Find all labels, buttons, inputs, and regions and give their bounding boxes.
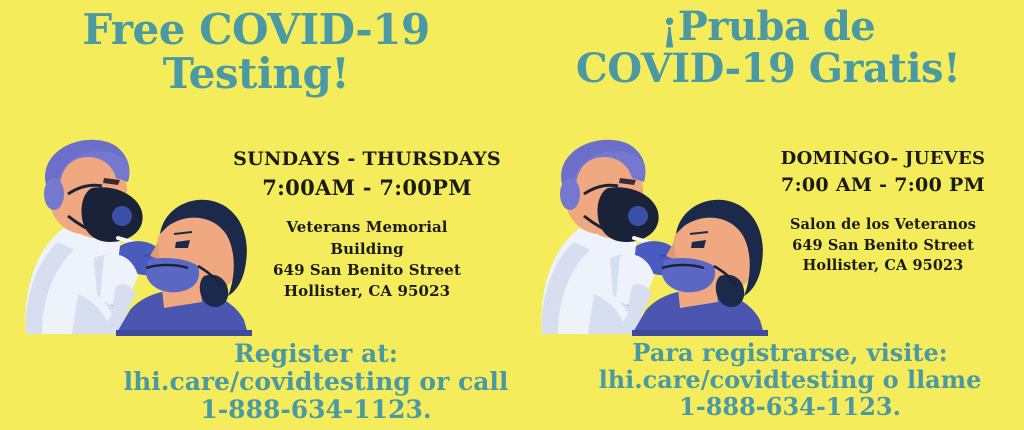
headline-line-2: Testing! — [0, 52, 512, 96]
flyer-panel-english: Free COVID-19 Testing! — [0, 0, 512, 430]
register-phone-english[interactable]: 1-888-634-1123. — [120, 396, 512, 424]
headline-line-1: Free COVID-19 — [0, 8, 512, 52]
headline-spanish: ¡Pruba de COVID-19 Gratis! — [512, 6, 1024, 90]
address-spanish: Salon de los Veteranos 649 San Benito St… — [742, 215, 1024, 277]
schedule-info-english: SUNDAYS - THURSDAYS 7:00AM - 7:00PM Vete… — [222, 148, 512, 302]
covid-swab-test-illustration-spanish — [524, 138, 776, 338]
address-line: Hollister, CA 95023 — [742, 256, 1024, 277]
schedule-info-spanish: DOMINGO- JUEVES 7:00 AM - 7:00 PM Salon … — [742, 148, 1024, 277]
register-heading-spanish: Para registrarse, visite: — [570, 340, 1010, 367]
registration-info-spanish: Para registrarse, visite: lhi.care/covid… — [570, 340, 1010, 421]
days-label-spanish: DOMINGO- JUEVES — [742, 148, 1024, 171]
register-url-english[interactable]: lhi.care/covidtesting or call — [120, 368, 512, 396]
address-line: 649 San Benito Street — [742, 236, 1024, 257]
register-url-spanish[interactable]: lhi.care/covidtesting o llame — [570, 367, 1010, 394]
covid-testing-flyer: Free COVID-19 Testing! — [0, 0, 1024, 430]
address-line: Hollister, CA 95023 — [222, 281, 512, 302]
address-english: Veterans Memorial Building 649 San Benit… — [222, 217, 512, 302]
registration-info-english: Register at: lhi.care/covidtesting or ca… — [120, 340, 512, 424]
register-phone-spanish[interactable]: 1-888-634-1123. — [570, 394, 1010, 421]
hours-label-english: 7:00AM - 7:00PM — [222, 172, 512, 204]
address-line: Building — [222, 239, 512, 260]
address-line: Veterans Memorial — [222, 217, 512, 238]
headline-line-2: COVID-19 Gratis! — [512, 48, 1024, 90]
flyer-panel-spanish: ¡Pruba de COVID-19 Gratis! — [512, 0, 1024, 430]
address-line: 649 San Benito Street — [222, 260, 512, 281]
hours-label-spanish: 7:00 AM - 7:00 PM — [742, 171, 1024, 200]
headline-line-1: ¡Pruba de — [512, 6, 1024, 48]
days-label-english: SUNDAYS - THURSDAYS — [222, 148, 512, 172]
register-heading-english: Register at: — [120, 340, 512, 368]
headline-english: Free COVID-19 Testing! — [0, 8, 512, 96]
address-line: Salon de los Veteranos — [742, 215, 1024, 236]
